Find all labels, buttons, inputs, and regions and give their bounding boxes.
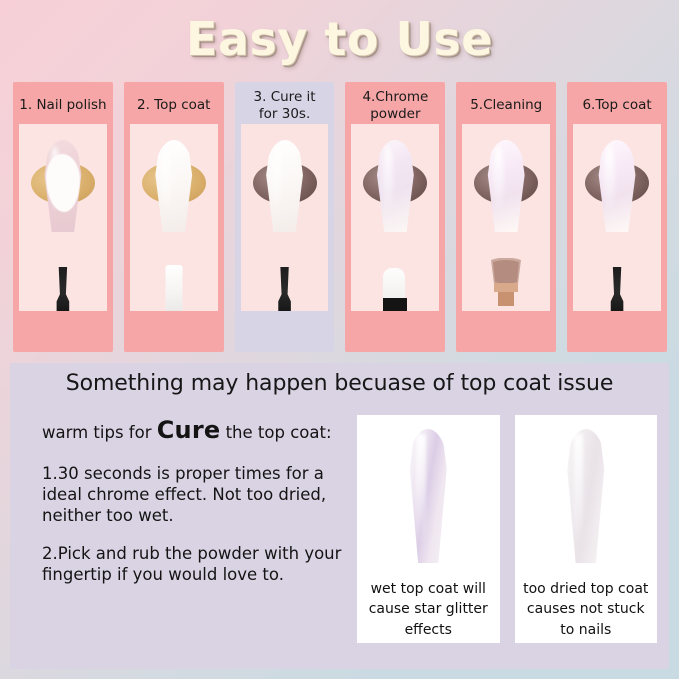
tips-cure-word: Cure <box>157 416 221 444</box>
step-label-3: 3. Cure it for 30s. <box>252 87 318 124</box>
step-photo-5 <box>462 124 550 311</box>
step-card-6: 6.Top coat <box>567 82 667 352</box>
nail-tip-icon <box>565 429 607 563</box>
result-caption-dry: too dried top coat causes not stuck to n… <box>515 579 658 640</box>
infographic-page: Easy to Use 1. Nail polish 2. Top coat 3… <box>0 0 679 679</box>
nail-tip-icon <box>154 140 194 232</box>
black-brush-icon <box>55 267 70 311</box>
step-card-5: 5.Cleaning <box>456 82 556 352</box>
step-card-4: 4.Chrome powder <box>345 82 445 352</box>
steps-strip: 1. Nail polish 2. Top coat 3. Cure it fo… <box>13 82 667 352</box>
step-label-2: 2. Top coat <box>135 87 213 124</box>
step-photo-2 <box>130 124 218 311</box>
nail-tip-icon <box>265 140 305 232</box>
white-cap-icon <box>383 268 407 311</box>
step-card-2: 2. Top coat <box>124 82 224 352</box>
step-label-1: 1. Nail polish <box>17 87 108 124</box>
step-card-1: 1. Nail polish <box>13 82 113 352</box>
panel-heading: Something may happen becuase of top coat… <box>10 371 669 396</box>
nail-tip-icon <box>486 140 526 232</box>
step-label-5: 5.Cleaning <box>468 87 544 124</box>
tips-lead-before: warm tips for <box>42 423 157 442</box>
step-photo-3 <box>241 124 329 311</box>
result-caption-wet: wet top coat will cause star glitter eff… <box>357 579 500 640</box>
results-group: wet top coat will cause star glitter eff… <box>357 415 657 643</box>
result-card-dry: too dried top coat causes not stuck to n… <box>515 415 658 643</box>
result-photo-wet <box>357 427 500 579</box>
tips-item-one: 1.30 seconds is proper times for a ideal… <box>42 463 342 526</box>
nail-tip-icon <box>375 140 415 232</box>
tips-panel: Something may happen becuase of top coat… <box>10 363 669 669</box>
warm-tips-block: warm tips for Cure the top coat: 1.30 se… <box>42 415 342 602</box>
step-photo-4 <box>351 124 439 311</box>
step-card-3: 3. Cure it for 30s. <box>235 82 335 352</box>
nail-tip-icon <box>407 429 449 563</box>
step-photo-6 <box>573 124 661 311</box>
step-photo-1 <box>19 124 107 311</box>
result-card-wet: wet top coat will cause star glitter eff… <box>357 415 500 643</box>
fan-brush-glyph <box>485 258 527 306</box>
tips-lead: warm tips for Cure the top coat: <box>42 415 342 446</box>
result-photo-dry <box>515 427 658 579</box>
page-title: Easy to Use <box>0 12 679 66</box>
tips-item-two: 2.Pick and rub the powder with your fing… <box>42 543 342 585</box>
white-bottle-icon <box>165 265 182 311</box>
step-label-6: 6.Top coat <box>580 87 653 124</box>
nail-tip-icon <box>597 140 637 232</box>
fan-brush-icon <box>485 258 527 311</box>
black-brush-icon <box>610 267 625 311</box>
black-brush-icon <box>277 267 292 311</box>
step-label-4: 4.Chrome powder <box>360 87 430 124</box>
tips-lead-after: the top coat: <box>220 423 331 442</box>
